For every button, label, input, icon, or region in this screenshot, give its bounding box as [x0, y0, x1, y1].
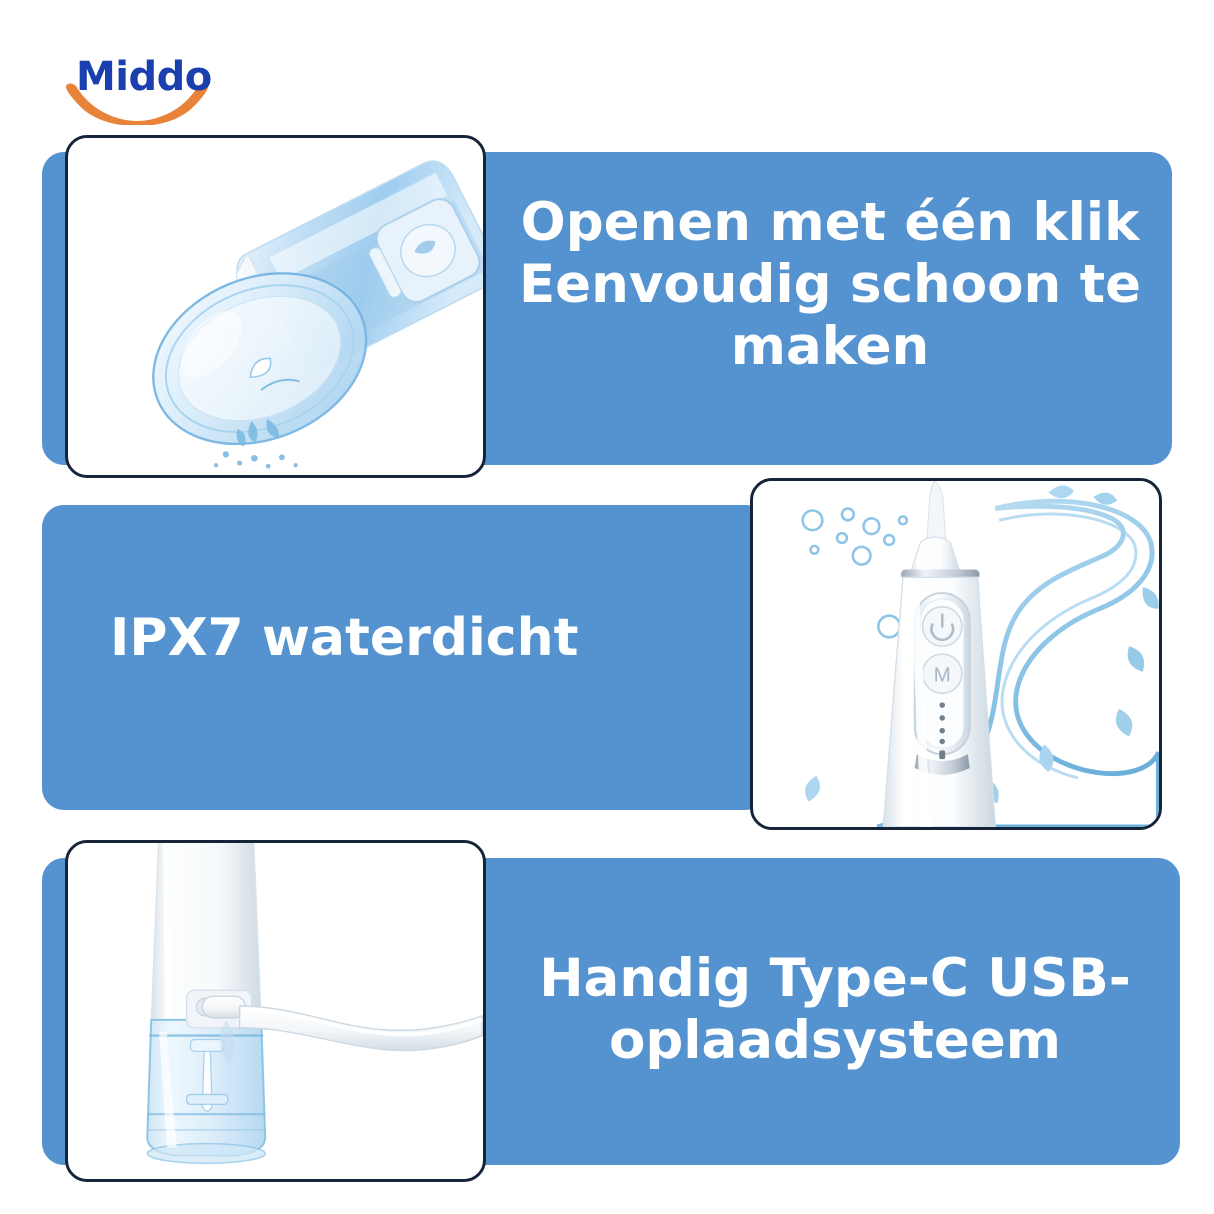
- feature-image-card-ipx7-waterproof: M: [750, 478, 1162, 830]
- usb-c-cable-charging-base-photo: [68, 843, 483, 1179]
- water-tank-open-lid-photo: [68, 138, 483, 475]
- feature-heading-usb-c-charging: Handig Type-C USB- oplaadsysteem: [520, 948, 1150, 1072]
- water-flosser-splash-photo: M: [753, 481, 1159, 827]
- feature-image-card-usb-c-charging: [65, 840, 486, 1182]
- feature-heading-ipx7-waterproof: IPX7 waterdicht: [110, 608, 710, 669]
- svg-text:M: M: [934, 664, 951, 687]
- product-feature-infographic: Middo: [0, 0, 1214, 1214]
- feature-image-card-one-click-open: [65, 135, 486, 478]
- feature-heading-one-click-open: Openen met één klik Eenvoudig schoon te …: [500, 192, 1160, 378]
- brand-name: Middo: [76, 55, 212, 99]
- brand-logo: Middo: [62, 55, 232, 125]
